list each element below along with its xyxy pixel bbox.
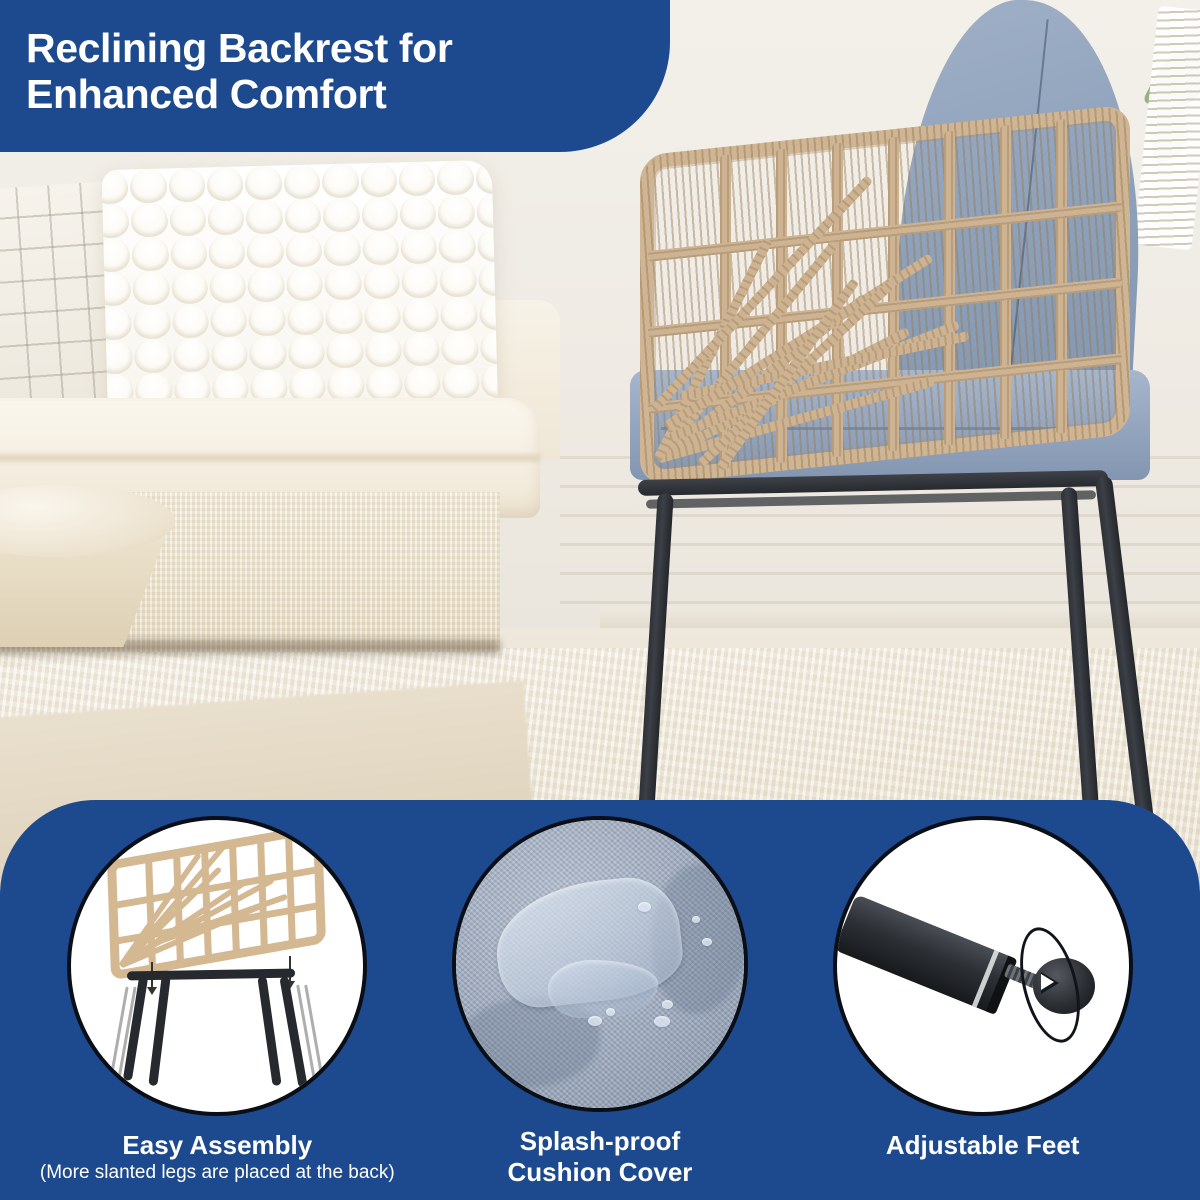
feature-subtitle-1: (More slanted legs are placed at the bac… (40, 1162, 395, 1184)
headline-banner: Reclining Backrest for Enhanced Comfort (0, 0, 670, 152)
feature-splash-proof-cover: Splash-proof Cushion Cover (420, 816, 780, 1187)
exploded-chair-assembly-icon (67, 816, 367, 1116)
wicker-accent-chair (600, 70, 1200, 850)
feature-caption-1: Easy Assembly (More slanted legs are pla… (40, 1130, 395, 1184)
headline-text: Reclining Backrest for Enhanced Comfort (0, 25, 452, 118)
feature-title-3: Adjustable Feet (886, 1130, 1080, 1161)
rotation-arrow-icon (1041, 972, 1059, 994)
headline-line-1: Reclining Backrest for (26, 25, 452, 71)
rattan-seat-frame (107, 823, 326, 980)
feature-title-2-line1: Splash-proof (508, 1126, 693, 1157)
chair-metal-legs (620, 465, 1180, 855)
metal-leg-frame (119, 970, 319, 1095)
feature-title-1: Easy Assembly (40, 1130, 395, 1161)
adjustable-foot-icon (833, 816, 1133, 1116)
chunky-knit-pillow (102, 160, 499, 435)
water-droplet-fabric-icon (452, 816, 748, 1112)
feature-easy-assembly: Easy Assembly (More slanted legs are pla… (37, 816, 397, 1184)
headline-line-2: Enhanced Comfort (26, 71, 452, 117)
product-feature-image: Reclining Backrest for Enhanced Comfort (0, 0, 1200, 1200)
feature-caption-2: Splash-proof Cushion Cover (508, 1126, 693, 1187)
feature-title-2-line2: Cushion Cover (508, 1157, 693, 1188)
feature-adjustable-feet: Adjustable Feet (803, 816, 1163, 1161)
feature-panel: Easy Assembly (More slanted legs are pla… (0, 800, 1200, 1200)
feature-caption-3: Adjustable Feet (886, 1130, 1080, 1161)
wicker-side-panel (640, 104, 1130, 486)
chair-leg-tube (833, 894, 1015, 1014)
